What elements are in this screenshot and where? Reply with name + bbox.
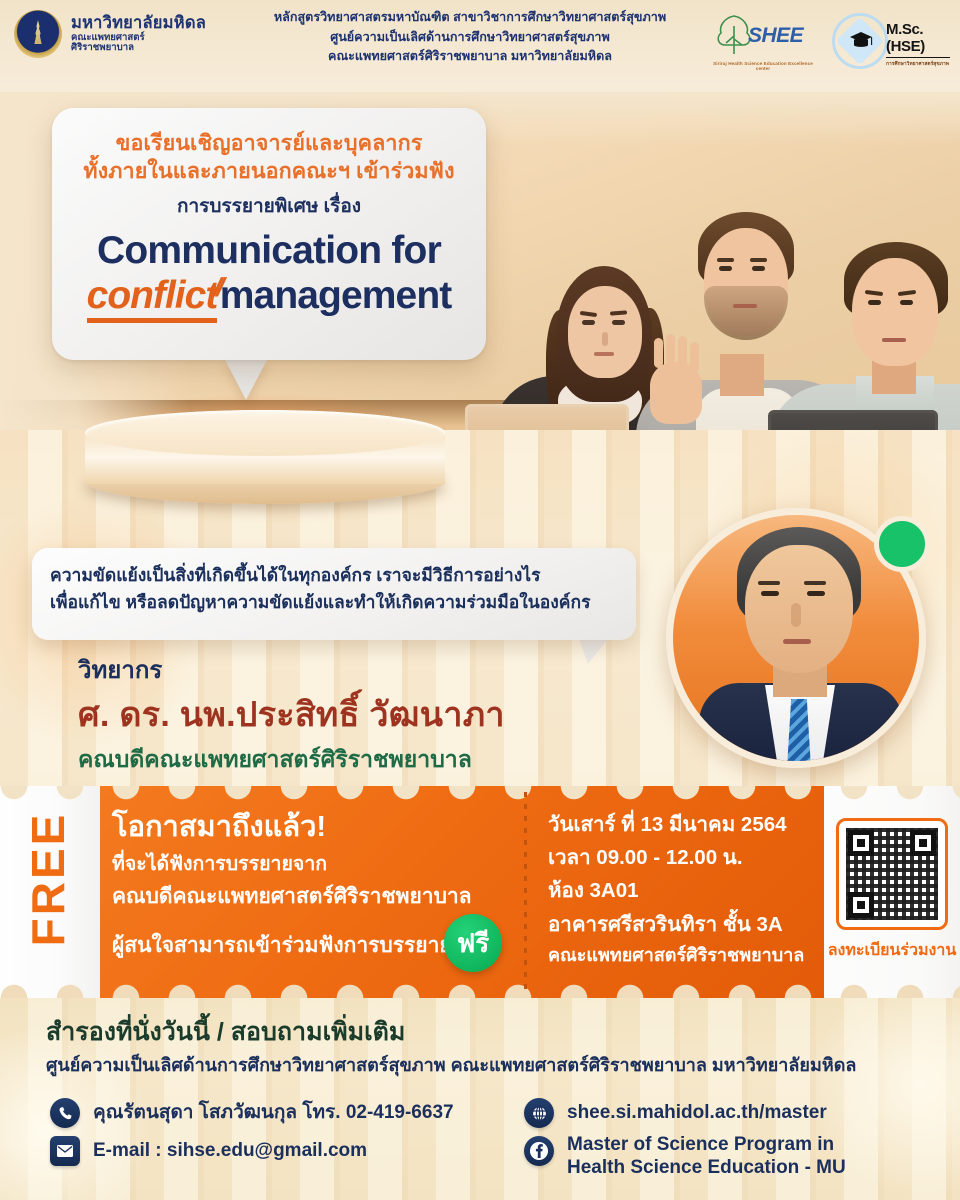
event-building: อาคารศรีสวรินทิรา ชั้น 3A bbox=[548, 908, 816, 941]
header-line-2: ศูนย์ความเป็นเลิศด้านการศึกษาวิทยาศาสตร์… bbox=[230, 28, 710, 48]
contact-phone-row: คุณรัตนสุดา โสภวัฒนกุล โทร. 02-419-6637 bbox=[50, 1098, 454, 1128]
mahidol-hospital: ศิริราชพยาบาล bbox=[71, 43, 206, 54]
contact-facebook-row[interactable]: Master of Science Program in Health Scie… bbox=[524, 1134, 846, 1180]
pedestal-top bbox=[85, 410, 445, 456]
header-line-1: หลักสูตรวิทยาศาสตรมหาบัณฑิต สาขาวิชาการศ… bbox=[230, 8, 710, 28]
management-word: management bbox=[220, 274, 452, 317]
msc-hse-logo: M.Sc.(HSE) การศึกษาวิทยาศาสตร์สุขภาพ bbox=[832, 11, 950, 71]
lecture-title-main: Communication for bbox=[52, 231, 486, 272]
quote-speech-bubble: ความขัดแย้งเป็นสิ่งที่เกิดขึ้นได้ในทุกอง… bbox=[32, 548, 636, 640]
event-time: เวลา 09.00 - 12.00 น. bbox=[548, 841, 816, 874]
invite-line-1: ขอเรียนเชิญอาจารย์และบุคลากร bbox=[52, 108, 486, 158]
msc-subtitle: การศึกษาวิทยาศาสตร์สุขภาพ bbox=[886, 57, 950, 68]
ticket-banner: FREE โอกาสมาถึงแล้ว! ที่จะได้ฟังการบรรยา… bbox=[0, 786, 960, 998]
qr-caption: ลงทะเบียนร่วมงาน bbox=[824, 938, 960, 963]
shee-logo: SHEE Siriraj Health Science Education Ex… bbox=[706, 8, 818, 74]
speaker-role-label: วิทยากร bbox=[78, 650, 505, 689]
header-program-text: หลักสูตรวิทยาศาสตรมหาบัณฑิต สาขาวิชาการศ… bbox=[230, 8, 710, 67]
contact-website-text: shee.si.mahidol.ac.th/master bbox=[567, 1102, 827, 1125]
quote-bubble-tail bbox=[578, 636, 610, 664]
event-room: ห้อง 3A01 bbox=[548, 874, 816, 907]
pedestal-platform bbox=[85, 410, 445, 502]
header-partner-logos: SHEE Siriraj Health Science Education Ex… bbox=[706, 8, 950, 74]
qr-finder-tl bbox=[848, 830, 874, 856]
free-badge: ฟรี bbox=[444, 914, 502, 972]
invite-line-2: ทั้งภายในและภายนอกคณะฯ เข้าร่วมฟัง bbox=[52, 158, 486, 186]
graduation-cap-icon bbox=[849, 30, 873, 52]
contact-email-row[interactable]: E-mail : sihse.edu@gmail.com bbox=[50, 1136, 367, 1166]
shee-subtitle: Siriraj Health Science Education Excelle… bbox=[708, 61, 818, 71]
contact-website-row[interactable]: shee.si.mahidol.ac.th/master bbox=[524, 1098, 827, 1128]
header-bar: มหาวิทยาลัยมหิดล คณะแพทยศาสตร์ ศิริราชพย… bbox=[0, 0, 960, 92]
qr-finder-tr bbox=[910, 830, 936, 856]
event-faculty: คณะแพทยศาสตร์ศิริราชพยาบาล bbox=[548, 941, 816, 970]
ticket-line-4: ผู้สนใจสามารถเข้าร่วมฟังการบรรยายได้ bbox=[112, 929, 476, 962]
ticket-scallop-bottom bbox=[0, 982, 960, 998]
globe-icon bbox=[524, 1098, 554, 1128]
invite-line-3: การบรรยายพิเศษ เรื่อง bbox=[52, 191, 486, 221]
footer-title: สำรองที่นั่งวันนี้ / สอบถามเพิ่มเติม bbox=[46, 1012, 405, 1052]
envelope-icon bbox=[50, 1136, 80, 1166]
speaker-block: วิทยากร ศ. ดร. นพ.ประสิทธิ์ วัฒนาภา คณบด… bbox=[78, 650, 505, 778]
title-speech-bubble: ขอเรียนเชิญอาจารย์และบุคลากร ทั้งภายในแล… bbox=[52, 108, 486, 360]
conflict-word: conflict bbox=[87, 274, 218, 323]
ticket-line-2: ที่จะได้ฟังการบรรยายจาก bbox=[112, 848, 512, 879]
registration-qr-code[interactable] bbox=[836, 818, 948, 930]
facebook-icon bbox=[524, 1136, 554, 1166]
quote-line-2: เพื่อแก้ไข หรือลดปัญหาความขัดแย้งและทำให… bbox=[50, 589, 618, 616]
poster-root: มหาวิทยาลัยมหิดล คณะแพทยศาสตร์ ศิริราชพย… bbox=[0, 0, 960, 1200]
ticket-scallop-top bbox=[0, 786, 960, 800]
ticket-perforation-line bbox=[524, 792, 527, 992]
contact-email-text: E-mail : sihse.edu@gmail.com bbox=[93, 1140, 367, 1163]
contact-phone-text: คุณรัตนสุดา โสภวัฒนกุล โทร. 02-419-6637 bbox=[93, 1102, 454, 1125]
speaker-position: คณบดีคณะแพทยศาสตร์ศิริราชพยาบาล bbox=[78, 742, 505, 778]
event-details: วันเสาร์ ที่ 13 มีนาคม 2564 เวลา 09.00 -… bbox=[548, 808, 816, 970]
footer-subtitle: ศูนย์ความเป็นเลิศด้านการศึกษาวิทยาศาสตร์… bbox=[46, 1050, 856, 1079]
shee-wordmark: SHEE bbox=[748, 24, 803, 48]
mahidol-seal-icon bbox=[14, 10, 62, 58]
mahidol-name: มหาวิทยาลัยมหิดล bbox=[71, 14, 206, 32]
quote-line-1: ความขัดแย้งเป็นสิ่งที่เกิดขึ้นได้ในทุกอง… bbox=[50, 562, 618, 589]
mahidol-logo: มหาวิทยาลัยมหิดล คณะแพทยศาสตร์ ศิริราชพย… bbox=[14, 10, 206, 58]
event-date: วันเสาร์ ที่ 13 มีนาคม 2564 bbox=[548, 808, 816, 841]
lecture-title-sub: conflict//management bbox=[52, 274, 486, 318]
msc-wordmark: M.Sc.(HSE) bbox=[886, 21, 950, 55]
header-line-3: คณะแพทยศาสตร์ศิริราชพยาบาล มหาวิทยาลัยมห… bbox=[230, 47, 710, 67]
speaker-name: ศ. ดร. นพ.ประสิทธิ์ วัฒนาภา bbox=[78, 687, 505, 741]
qr-finder-bl bbox=[848, 892, 874, 918]
phone-icon bbox=[50, 1098, 80, 1128]
msc-text-block: M.Sc.(HSE) การศึกษาวิทยาศาสตร์สุขภาพ bbox=[886, 21, 950, 68]
facebook-line-1: Master of Science Program in bbox=[567, 1134, 846, 1157]
mahidol-logo-text: มหาวิทยาลัยมหิดล คณะแพทยศาสตร์ ศิริราชพย… bbox=[71, 14, 206, 54]
contact-facebook-text: Master of Science Program in Health Scie… bbox=[567, 1134, 846, 1180]
title-bubble-tail bbox=[224, 358, 268, 400]
facebook-line-2: Health Science Education - MU bbox=[567, 1157, 846, 1180]
ticket-line-3: คณบดีคณะแพทยศาสตร์ศิริราชพยาบาล bbox=[112, 880, 512, 913]
ticket-headline: โอกาสมาถึงแล้ว! bbox=[112, 810, 512, 844]
green-accent-dot bbox=[874, 516, 930, 572]
free-vertical-label: FREE bbox=[21, 785, 75, 973]
